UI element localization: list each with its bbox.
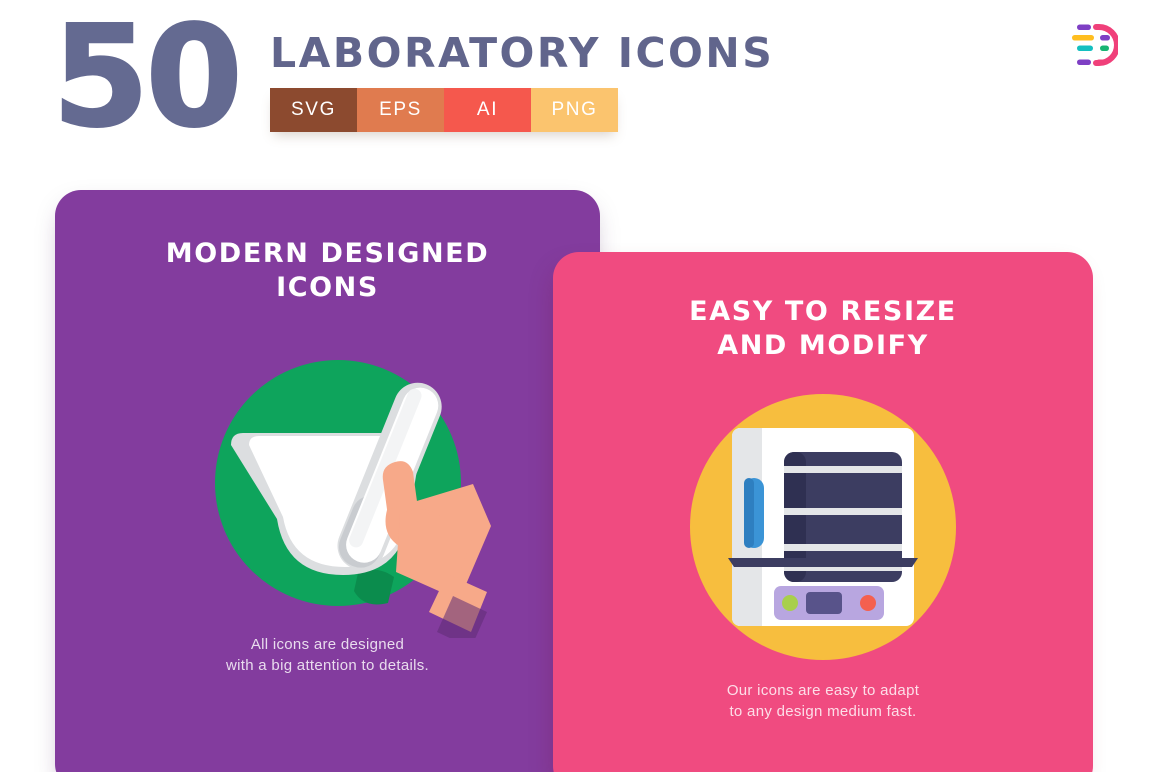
- laboratory-oven-illustration: [688, 392, 958, 662]
- mortar-and-pestle-icon: [195, 338, 495, 638]
- format-badge-eps[interactable]: EPS: [357, 88, 444, 132]
- card-modern-designed-icons[interactable]: MODERN DESIGNED ICONS: [55, 190, 600, 772]
- title-block: LABORATORY ICONS SVG EPS AI PNG: [270, 30, 774, 132]
- brand-d-logo[interactable]: [1066, 22, 1118, 68]
- card-title-easy-to-resize: EASY TO RESIZE AND MODIFY: [553, 295, 1093, 363]
- format-badge-svg[interactable]: SVG: [270, 88, 357, 132]
- card-easy-to-resize[interactable]: EASY TO RESIZE AND MODIFY: [553, 252, 1093, 772]
- card-caption-easy-to-resize: Our icons are easy to adapt to any desig…: [553, 680, 1093, 722]
- page-title: LABORATORY ICONS: [270, 30, 774, 76]
- laboratory-oven-icon: [688, 392, 958, 662]
- format-badge-group: SVG EPS AI PNG: [270, 88, 618, 132]
- brand-d-logo-icon: [1066, 22, 1118, 68]
- card-caption-modern-designed: All icons are designed with a big attent…: [55, 634, 600, 676]
- format-badge-png[interactable]: PNG: [531, 88, 618, 132]
- poster-canvas: 50 LABORATORY ICONS SVG EPS AI PNG: [0, 0, 1160, 772]
- mortar-and-pestle-illustration: [195, 338, 495, 638]
- icon-count-number: 50: [52, 8, 239, 148]
- card-title-modern-designed: MODERN DESIGNED ICONS: [55, 237, 600, 305]
- header: 50 LABORATORY ICONS SVG EPS AI PNG: [0, 0, 1160, 180]
- format-badge-ai[interactable]: AI: [444, 88, 531, 132]
